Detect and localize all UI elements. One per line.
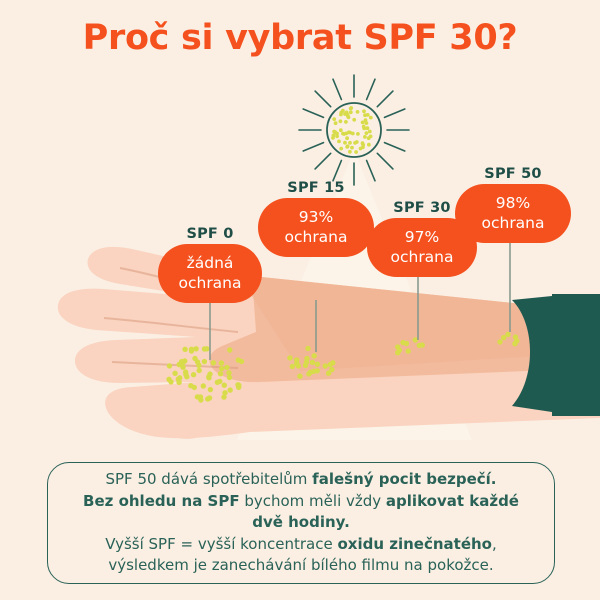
badge-label-spf-0: SPF 0 (158, 226, 262, 242)
footnote-line-2-b: bychom měli vždy (240, 492, 386, 510)
badge-protection-spf-30: ochrana (381, 247, 463, 267)
badge-pill-spf-50: 98% ochrana (455, 184, 571, 243)
footnote-line-3-b: dvě hodiny. (252, 513, 350, 531)
footnote-line-4-b: oxidu zinečnatého (337, 535, 492, 553)
footnote-line-2-c: aplikovat každé (386, 492, 519, 510)
badge-percent-spf-15: 93% (272, 207, 360, 227)
footnote-line-2-a: Bez ohledu na SPF (83, 492, 240, 510)
footnote-line-5-a: výsledkem je zanechávání bílého filmu na… (108, 556, 493, 574)
badge-pill-spf-0: žádná ochrana (158, 244, 262, 303)
badge-percent-spf-30: 97% (381, 227, 463, 247)
footnote-line-2: Bez ohledu na SPF bychom měli vždy aplik… (83, 491, 519, 513)
footnote-line-4-a: Vyšší SPF = vyšší koncentrace (105, 535, 337, 553)
footnote-line-5: výsledkem je zanechávání bílého filmu na… (108, 555, 493, 577)
footnote-text: SPF 50 dává spotřebitelům falešný pocit … (47, 462, 555, 584)
footnote-line-4: Vyšší SPF = vyšší koncentrace oxidu zine… (105, 534, 497, 556)
badge-spf-50[interactable]: SPF 50 98% ochrana (455, 166, 571, 243)
badge-percent-spf-50: 98% (469, 193, 557, 213)
badge-protection-spf-50: ochrana (469, 213, 557, 233)
badge-label-spf-50: SPF 50 (455, 166, 571, 182)
badge-protection-spf-0: ochrana (172, 273, 248, 293)
footnote-line-1-b: falešný pocit bezpečí. (312, 470, 496, 488)
badge-spf-0[interactable]: SPF 0 žádná ochrana (158, 226, 262, 303)
badge-protection-spf-15: ochrana (272, 227, 360, 247)
badge-percent-spf-0: žádná (172, 253, 248, 273)
footnote-line-4-c: , (492, 535, 497, 553)
footnote-line-1: SPF 50 dává spotřebitelům falešný pocit … (105, 469, 496, 491)
infographic-canvas: Proč si vybrat SPF 30? SPF 0 žádná ochra… (0, 0, 600, 600)
badge-label-spf-15: SPF 15 (258, 180, 374, 196)
badge-pill-spf-15: 93% ochrana (258, 198, 374, 257)
sun-icon (299, 75, 409, 185)
footnote-line-3: dvě hodiny. (252, 512, 350, 534)
badge-spf-15[interactable]: SPF 15 93% ochrana (258, 180, 374, 257)
footnote-line-1-a: SPF 50 dává spotřebitelům (105, 470, 312, 488)
